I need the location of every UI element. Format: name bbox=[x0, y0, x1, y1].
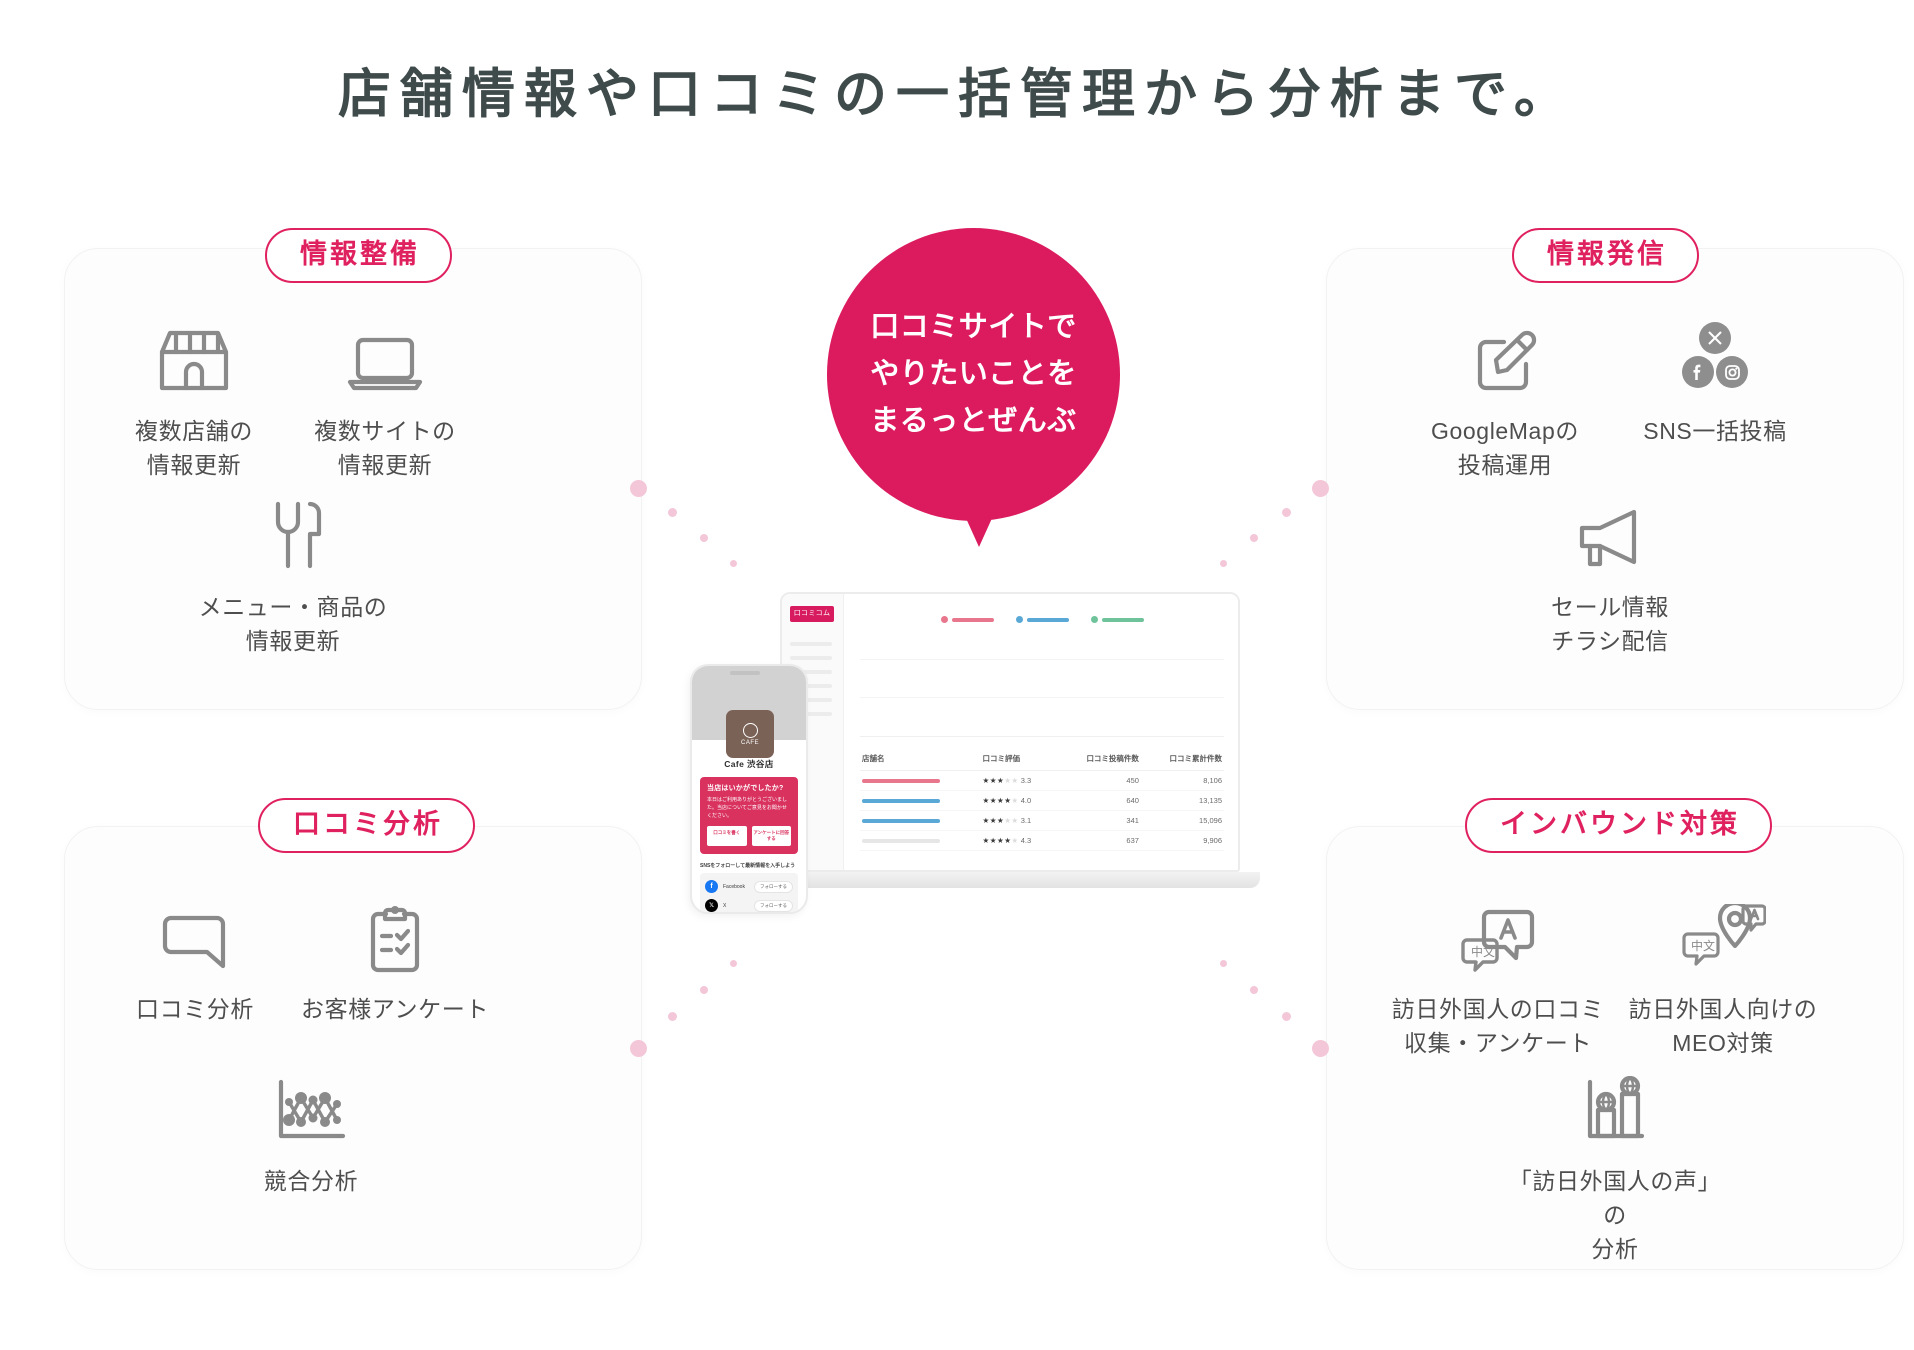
connector-dot bbox=[1220, 960, 1227, 967]
center-bubble-text: 口コミサイトで やりたいことを まるっとぜんぶ bbox=[870, 304, 1077, 445]
cell-rating: ★★★★★ 4.3 bbox=[980, 831, 1057, 851]
legend-item bbox=[941, 616, 994, 623]
connector-dot bbox=[668, 508, 677, 517]
phone-mockup: CAFE Cafe 渋谷店 当店はいかがでしたか? 本日はご利用ありがとうござい… bbox=[690, 664, 808, 914]
feature-multi-store-update: 複数店舗の 情報更新 bbox=[104, 322, 284, 482]
storefront-icon bbox=[104, 322, 284, 396]
answer-survey-button[interactable]: アンケートに回答する bbox=[752, 826, 792, 846]
write-review-button[interactable]: 口コミを書く bbox=[707, 826, 747, 846]
table-header-cell: 店舗名 bbox=[860, 749, 980, 771]
rating-value: 3.1 bbox=[1021, 816, 1031, 825]
feature-review-analysis: 口コミ分析 bbox=[110, 900, 280, 1026]
connector-dot bbox=[1312, 1040, 1329, 1057]
cell-store-name bbox=[860, 831, 980, 851]
instagram-icon bbox=[1716, 356, 1748, 388]
connector-dot bbox=[630, 480, 647, 497]
sns-group-icon bbox=[1620, 322, 1810, 396]
cell-store-name bbox=[860, 811, 980, 831]
cell-rating: ★★★★★ 3.3 bbox=[980, 771, 1057, 791]
bubble-tail bbox=[960, 505, 998, 547]
pencil-square-icon bbox=[1410, 322, 1600, 396]
feature-label: 複数サイトの 情報更新 bbox=[290, 414, 480, 482]
cell-total-count: 15,096 bbox=[1141, 811, 1224, 831]
follow-button[interactable]: フォローする bbox=[754, 881, 793, 893]
feature-label: 競合分析 bbox=[226, 1164, 396, 1198]
connector-dot bbox=[630, 1040, 647, 1057]
store-name-redacted bbox=[862, 819, 940, 823]
feature-inbound-meo: 中文 訪日外国人向けの MEO対策 bbox=[1618, 900, 1828, 1060]
connector-dot bbox=[1250, 534, 1258, 542]
table-header-cell: 口コミ累計件数 bbox=[1141, 749, 1224, 771]
rating-value: 4.0 bbox=[1021, 796, 1031, 805]
table-header-cell: 口コミ投稿件数 bbox=[1058, 749, 1141, 771]
globe-bar-chart-icon bbox=[1500, 1072, 1730, 1146]
feature-label: 訪日外国人の口コミ 収集・アンケート bbox=[1388, 992, 1608, 1060]
connector-dot bbox=[1220, 560, 1227, 567]
table-row: ★★★★★ 3.134115,096 bbox=[860, 811, 1224, 831]
rating-value: 3.3 bbox=[1021, 776, 1031, 785]
infographic-canvas: 店舗情報や口コミの一括管理から分析まで。 情報整備 複数店舗の 情報更新 複数サ… bbox=[0, 0, 1914, 1350]
feature-multi-site-update: 複数サイトの 情報更新 bbox=[290, 322, 480, 482]
feature-googlemap-posting: GoogleMapの 投稿運用 bbox=[1410, 322, 1600, 482]
connector-dot bbox=[730, 560, 737, 567]
megaphone-icon bbox=[1510, 498, 1710, 572]
feature-label: お客様アンケート bbox=[290, 992, 500, 1026]
sns-follow-row: fFacebookフォローする bbox=[705, 877, 793, 896]
connector-dot bbox=[1312, 480, 1329, 497]
survey-body: 本日はご利用ありがとうございました。当店についてご意見をお聞かせください。 bbox=[707, 797, 791, 820]
connector-dot bbox=[730, 960, 737, 967]
center-bubble: 口コミサイトで やりたいことを まるっとぜんぶ bbox=[827, 228, 1120, 521]
scatter-chart-icon bbox=[226, 1072, 396, 1146]
store-logo: CAFE bbox=[726, 710, 774, 758]
table-header-cell: 口コミ評価 bbox=[980, 749, 1057, 771]
rating-value: 4.3 bbox=[1021, 836, 1031, 845]
facebook-icon bbox=[1682, 356, 1714, 388]
card-review-analysis bbox=[64, 826, 642, 1270]
feature-inbound-voice-analysis: 「訪日外国人の声」の 分析 bbox=[1500, 1072, 1730, 1266]
store-name-redacted bbox=[862, 779, 940, 783]
star-rating: ★★★★★ bbox=[982, 776, 1018, 785]
sns-follow-list: fFacebookフォローする𝕏Xフォローする bbox=[700, 873, 798, 914]
badge-information-maintenance: 情報整備 bbox=[265, 228, 452, 283]
phone-speaker bbox=[730, 671, 760, 675]
cell-rating: ★★★★★ 3.1 bbox=[980, 811, 1057, 831]
cell-post-count: 640 bbox=[1058, 791, 1141, 811]
follow-button[interactable]: フォローする bbox=[754, 900, 793, 912]
feature-sale-flyer: セール情報 チラシ配信 bbox=[1510, 498, 1710, 658]
star-rating: ★★★★★ bbox=[982, 816, 1018, 825]
legend-item bbox=[1016, 616, 1069, 623]
sns-name: Facebook bbox=[723, 884, 749, 890]
feature-label: セール情報 チラシ配信 bbox=[1510, 590, 1710, 658]
feature-sns-bulk-posting: SNS一括投稿 bbox=[1620, 322, 1810, 448]
badge-review-analysis: 口コミ分析 bbox=[258, 798, 475, 853]
star-rating: ★★★★★ bbox=[982, 836, 1018, 845]
connector-dot bbox=[1282, 1012, 1291, 1021]
feature-label: 複数店舗の 情報更新 bbox=[104, 414, 284, 482]
chart-legend bbox=[860, 616, 1224, 623]
table-header-row: 店舗名口コミ評価口コミ投稿件数口コミ累計件数 bbox=[860, 749, 1224, 771]
badge-information-distribution: 情報発信 bbox=[1512, 228, 1699, 283]
x-icon: 𝕏 bbox=[705, 899, 718, 912]
table-body: ★★★★★ 3.34508,106★★★★★ 4.064013,135★★★★★… bbox=[860, 771, 1224, 851]
bar-chart bbox=[860, 633, 1224, 737]
feature-menu-product-update: メニュー・商品の 情報更新 bbox=[188, 498, 398, 658]
store-review-table: 店舗名口コミ評価口コミ投稿件数口コミ累計件数 ★★★★★ 3.34508,106… bbox=[860, 749, 1224, 851]
feature-label: 口コミ分析 bbox=[110, 992, 280, 1026]
feature-customer-survey: お客様アンケート bbox=[290, 900, 500, 1026]
map-pin-translate-icon: 中文 bbox=[1618, 900, 1828, 974]
speech-bubble-icon bbox=[110, 900, 280, 974]
laptop-icon bbox=[290, 322, 480, 396]
x-icon bbox=[1699, 322, 1731, 354]
feature-label: メニュー・商品の 情報更新 bbox=[188, 590, 398, 658]
store-name-redacted bbox=[862, 799, 940, 803]
page-title: 店舗情報や口コミの一括管理から分析まで。 bbox=[0, 52, 1914, 128]
sidebar-row bbox=[790, 642, 832, 646]
survey-prompt-card: 当店はいかがでしたか? 本日はご利用ありがとうございました。当店についてご意見を… bbox=[700, 777, 798, 854]
cell-post-count: 637 bbox=[1058, 831, 1141, 851]
connector-dot bbox=[700, 534, 708, 542]
legend-bar bbox=[952, 618, 994, 622]
sns-follow-heading: SNSをフォローして最新情報を入手しよう bbox=[700, 862, 798, 869]
cell-post-count: 341 bbox=[1058, 811, 1141, 831]
cell-store-name bbox=[860, 791, 980, 811]
legend-bar bbox=[1102, 618, 1144, 622]
feature-label: 訪日外国人向けの MEO対策 bbox=[1618, 992, 1828, 1060]
legend-item bbox=[1091, 616, 1144, 623]
laptop-mockup: 口コミコム 店舗名口コミ評価口コミ投稿件数口コミ累計件数 ★★★★★ 3.345… bbox=[760, 592, 1260, 902]
feature-label: GoogleMapの 投稿運用 bbox=[1410, 414, 1600, 482]
cell-store-name bbox=[860, 771, 980, 791]
table-row: ★★★★★ 3.34508,106 bbox=[860, 771, 1224, 791]
connector-dot bbox=[1250, 986, 1258, 994]
logo-ring-icon bbox=[743, 723, 758, 738]
legend-dot-icon bbox=[941, 616, 948, 623]
feature-inbound-review-collection: 中文 訪日外国人の口コミ 収集・アンケート bbox=[1388, 900, 1608, 1060]
facebook-icon: f bbox=[705, 880, 718, 893]
svg-text:中文: 中文 bbox=[1691, 938, 1715, 953]
sns-follow-row: 𝕏Xフォローする bbox=[705, 896, 793, 914]
store-name-redacted bbox=[862, 839, 940, 843]
connector-dot bbox=[668, 1012, 677, 1021]
survey-title: 当店はいかがでしたか? bbox=[707, 783, 791, 793]
legend-dot-icon bbox=[1091, 616, 1098, 623]
dashboard-logo: 口コミコム bbox=[790, 606, 834, 622]
legend-bar bbox=[1027, 618, 1069, 622]
clipboard-check-icon bbox=[290, 900, 500, 974]
logo-text: CAFE bbox=[741, 740, 759, 746]
legend-dot-icon bbox=[1016, 616, 1023, 623]
sns-name: X bbox=[723, 903, 749, 909]
cell-total-count: 9,906 bbox=[1141, 831, 1224, 851]
feature-label: 「訪日外国人の声」の 分析 bbox=[1500, 1164, 1730, 1266]
cell-total-count: 13,135 bbox=[1141, 791, 1224, 811]
laptop-screen: 口コミコム 店舗名口コミ評価口コミ投稿件数口コミ累計件数 ★★★★★ 3.345… bbox=[780, 592, 1240, 872]
feature-competitor-analysis: 競合分析 bbox=[226, 1072, 396, 1198]
cutlery-icon bbox=[188, 498, 398, 572]
table-row: ★★★★★ 4.36379,906 bbox=[860, 831, 1224, 851]
cell-rating: ★★★★★ 4.0 bbox=[980, 791, 1057, 811]
svg-text:中文: 中文 bbox=[1471, 944, 1495, 959]
star-rating: ★★★★★ bbox=[982, 796, 1018, 805]
translate-chat-icon: 中文 bbox=[1388, 900, 1608, 974]
connector-dot bbox=[1282, 508, 1291, 517]
store-name: Cafe 渋谷店 bbox=[692, 758, 806, 770]
cell-post-count: 450 bbox=[1058, 771, 1141, 791]
sidebar-row bbox=[790, 656, 832, 660]
laptop-base bbox=[760, 872, 1260, 888]
cell-total-count: 8,106 bbox=[1141, 771, 1224, 791]
dashboard-main: 店舗名口コミ評価口コミ投稿件数口コミ累計件数 ★★★★★ 3.34508,106… bbox=[844, 594, 1238, 870]
phone-hero: CAFE bbox=[692, 666, 806, 740]
badge-inbound-measures: インバウンド対策 bbox=[1465, 798, 1772, 853]
feature-label: SNS一括投稿 bbox=[1620, 414, 1810, 448]
connector-dot bbox=[700, 986, 708, 994]
table-row: ★★★★★ 4.064013,135 bbox=[860, 791, 1224, 811]
